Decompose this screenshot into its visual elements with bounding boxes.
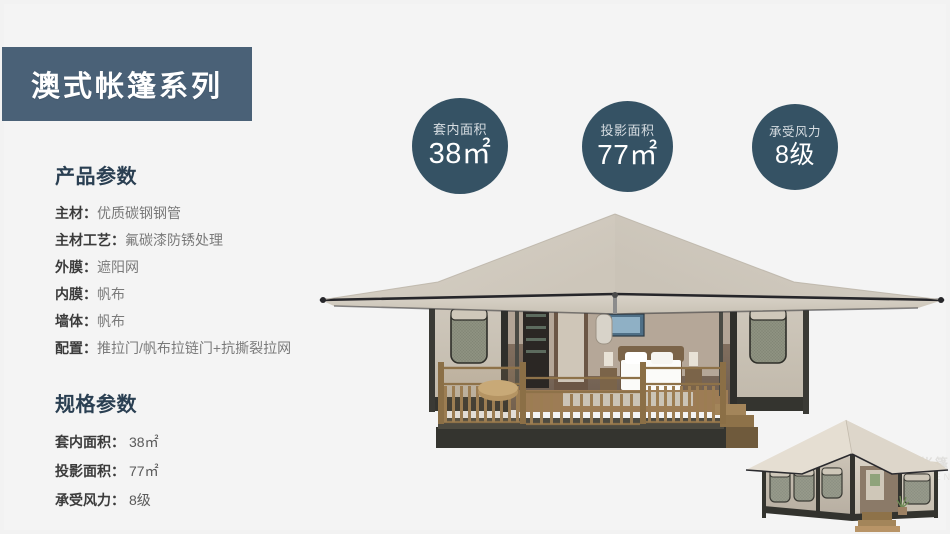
param-row: 主材：优质碳钢钢管: [0, 200, 330, 227]
param-label: 主材工艺：: [55, 232, 125, 248]
param-label: 内膜：: [55, 286, 97, 302]
param-row: 外膜：遮阳网: [0, 254, 330, 281]
param-row: 墙体：帆布: [0, 308, 330, 335]
param-row: 套内面积：38㎡: [0, 428, 330, 457]
series-title-banner: 澳式帐篷系列: [2, 47, 252, 121]
param-value: 38㎡: [125, 434, 159, 450]
param-row: 内膜：帆布: [0, 281, 330, 308]
specification-panel: 产品参数 主材：优质碳钢钢管 主材工艺：氟碳漆防锈处理 外膜：遮阳网 内膜：帆布…: [0, 160, 330, 519]
param-value: 帆布: [97, 286, 125, 302]
param-value: 8级: [125, 492, 151, 508]
section-specification-parameters: 规格参数 套内面积：38㎡ 投影面积：77㎡ 承受风力：8级: [0, 388, 330, 515]
param-value: 氟碳漆防锈处理: [125, 232, 223, 248]
param-value: 遮阳网: [97, 259, 139, 275]
param-label: 主材：: [55, 205, 97, 221]
param-value: 77㎡: [125, 463, 159, 479]
param-row: 主材工艺：氟碳漆防锈处理: [0, 227, 330, 254]
param-row: 配置：推拉门/帆布拉链门+抗撕裂拉网: [0, 335, 330, 362]
stat-circle-projected-area[interactable]: 投影面积 77㎡: [582, 101, 673, 192]
section-heading-product: 产品参数: [0, 160, 330, 189]
secondary-tent-image: [742, 412, 950, 534]
slide-canvas: 澳式帐篷系列 产品参数 主材：优质碳钢钢管 主材工艺：氟碳漆防锈处理 外膜：遮阳…: [0, 0, 950, 534]
section-heading-spec: 规格参数: [0, 388, 330, 417]
stat-caption: 投影面积: [600, 124, 654, 138]
stat-caption: 套内面积: [433, 123, 487, 137]
page-title: 澳式帐篷系列: [31, 63, 223, 105]
stat-caption: 承受风力: [769, 126, 821, 140]
stat-circle-interior-area[interactable]: 套内面积 38㎡: [412, 98, 508, 194]
stat-value: 38㎡: [429, 139, 492, 169]
param-row: 承受风力：8级: [0, 486, 330, 515]
param-value: 帆布: [97, 313, 125, 329]
param-label: 套内面积：: [55, 434, 125, 450]
param-label: 外膜：: [55, 259, 97, 275]
stat-value: 8级: [775, 142, 815, 168]
param-label: 承受风力：: [55, 492, 125, 508]
param-label: 投影面积：: [55, 463, 125, 479]
param-value: 推拉门/帆布拉链门+抗撕裂拉网: [97, 340, 291, 356]
param-label: 配置：: [55, 340, 97, 356]
section-product-parameters: 产品参数 主材：优质碳钢钢管 主材工艺：氟碳漆防锈处理 外膜：遮阳网 内膜：帆布…: [0, 160, 330, 362]
param-row: 投影面积：77㎡: [0, 457, 330, 486]
param-label: 墙体：: [55, 313, 97, 329]
stat-circle-wind-resistance[interactable]: 承受风力 8级: [752, 104, 838, 190]
stat-value: 77㎡: [597, 140, 658, 169]
param-value: 优质碳钢钢管: [97, 205, 181, 221]
